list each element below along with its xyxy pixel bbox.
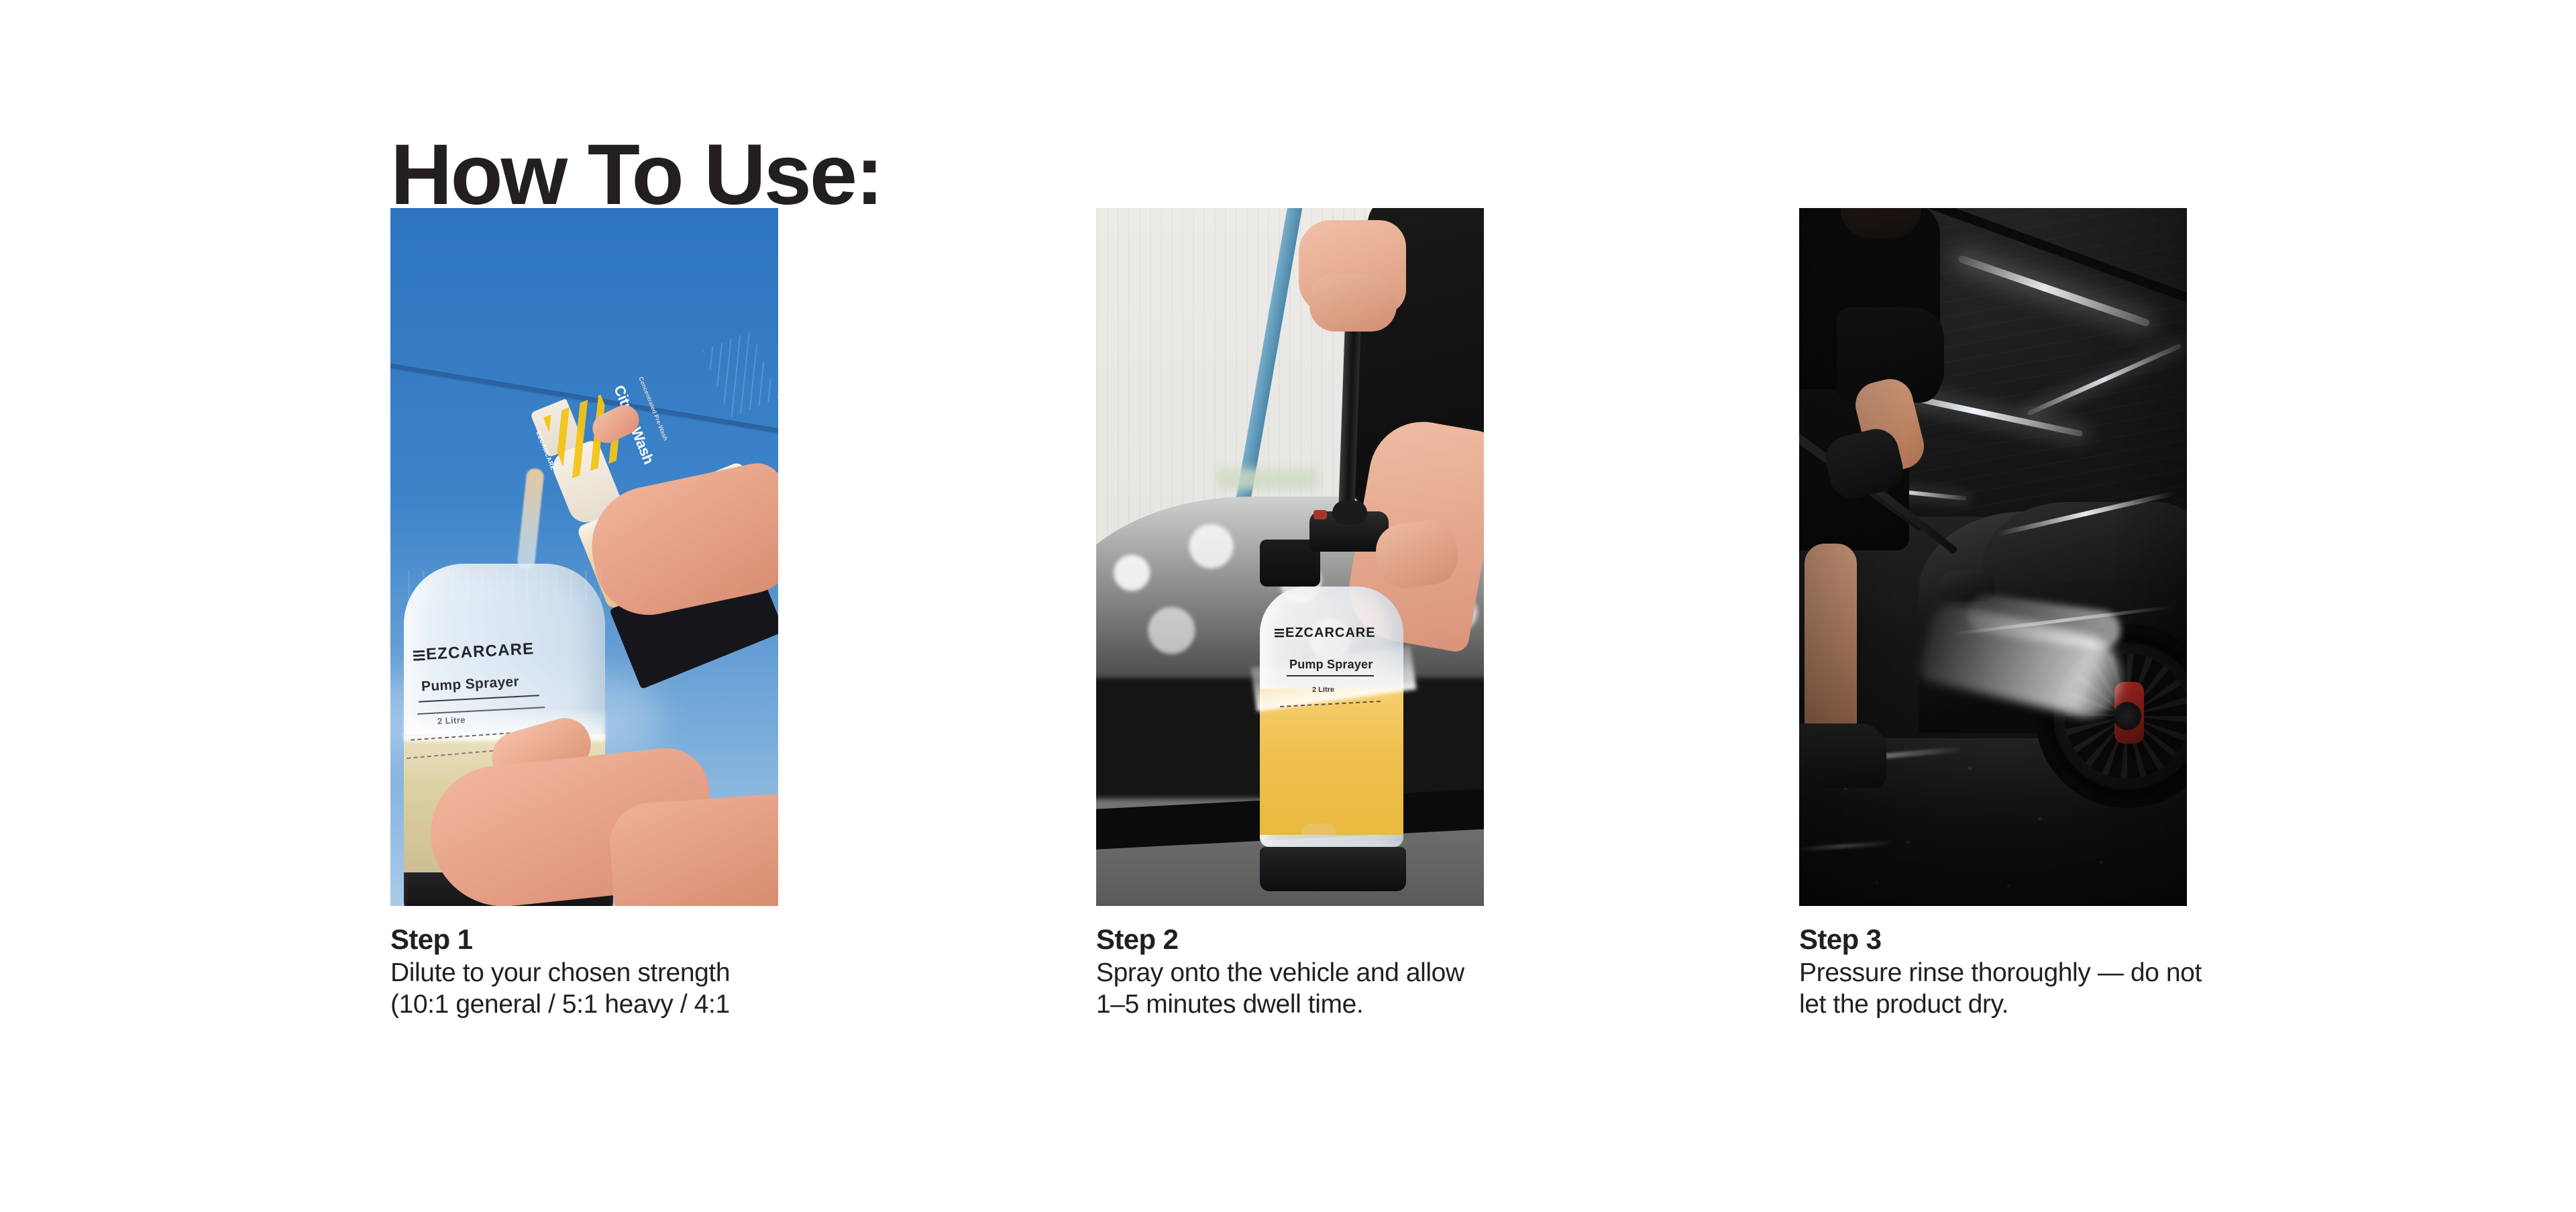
pump-head-knob <box>1332 501 1367 525</box>
step-1-photo: EZCARCARE Citrus Wash Concentrated Pre-W… <box>390 208 778 906</box>
brand-mark-icon <box>413 650 425 662</box>
brand-mark-icon <box>1275 629 1284 638</box>
step-item-1: EZCARCARE Citrus Wash Concentrated Pre-W… <box>390 208 778 1021</box>
background-highlight <box>1217 468 1318 490</box>
forearm <box>607 792 778 906</box>
step-3-text: Step 3 Pressure rinse thoroughly — do no… <box>1799 923 2202 1021</box>
how-to-use-page: How To Use: EZCARCARE Citrus Wash Concen… <box>0 0 2576 1212</box>
label-rule <box>1287 675 1374 676</box>
sprayer-volume-text: 2 Litre <box>437 715 466 726</box>
steps-container: EZCARCARE Citrus Wash Concentrated Pre-W… <box>0 0 2576 1212</box>
sprayer-volume-text: 2 Litre <box>1312 686 1334 694</box>
sprayer-brand-text: EZCARCARE <box>413 640 535 664</box>
pressure-release-valve <box>1313 510 1327 519</box>
step-item-3: Step 3 Pressure rinse thoroughly — do no… <box>1799 208 2187 1021</box>
step-1-text: Step 1 Dilute to your chosen strength (1… <box>390 923 793 1021</box>
fist-fingers <box>1309 274 1397 332</box>
step-2-photo: EZCARCARE Pump Sprayer 2 Litre <box>1096 208 1484 906</box>
brand-label: EZCARCARE <box>425 640 535 663</box>
sprayer-body: EZCARCARE Pump Sprayer 2 Litre <box>1260 587 1403 847</box>
step-2-text: Step 2 Spray onto the vehicle and allow … <box>1096 923 1499 1021</box>
step-2-description: Spray onto the vehicle and allow 1–5 min… <box>1096 958 1499 1021</box>
step-3-title: Step 3 <box>1799 923 2202 955</box>
sprayer-product-text: Pump Sprayer <box>421 674 519 695</box>
sprayer-base-ring <box>1260 847 1406 891</box>
step-3-description: Pressure rinse thoroughly — do not let t… <box>1799 958 2202 1021</box>
step-3-photo <box>1799 208 2187 906</box>
step-1-title: Step 1 <box>390 923 793 955</box>
vignette-overlay <box>1799 208 2187 906</box>
sprayer-product-text: Pump Sprayer <box>1289 658 1373 672</box>
sprayer-brand-text: EZCARCARE <box>1275 625 1376 641</box>
brand-label: EZCARCARE <box>1285 625 1376 640</box>
step-2-title: Step 2 <box>1096 923 1499 955</box>
label-rule <box>419 695 539 702</box>
step-1-description: Dilute to your chosen strength (10:1 gen… <box>390 958 793 1021</box>
pump-sprayer-bottle: EZCARCARE Pump Sprayer 2 Litre <box>1260 540 1403 835</box>
sprayer-liquid <box>1260 689 1403 835</box>
step-item-2: EZCARCARE Pump Sprayer 2 Litre Step 2 Sp… <box>1096 208 1484 1021</box>
